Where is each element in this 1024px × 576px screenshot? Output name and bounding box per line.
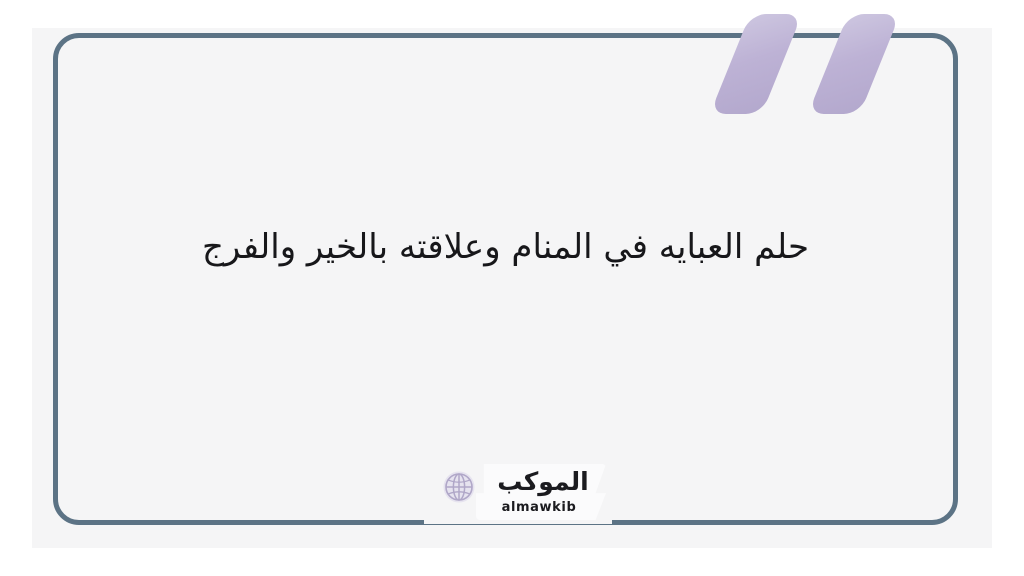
brand-logo: الموكب almawkib	[432, 462, 608, 524]
globe-icon	[442, 470, 476, 504]
quote-bar-left	[710, 14, 802, 114]
logo-latin-name: almawkib	[476, 500, 602, 515]
page-title-container: حلم العبايه في المنام وعلاقته بالخير وال…	[53, 225, 958, 271]
decorative-quote-bars	[700, 14, 940, 122]
poster-canvas: حلم العبايه في المنام وعلاقته بالخير وال…	[0, 0, 1024, 576]
page-title: حلم العبايه في المنام وعلاقته بالخير وال…	[53, 225, 958, 271]
quote-bar-right	[808, 14, 900, 114]
logo-arabic-name: الموكب	[484, 466, 602, 497]
